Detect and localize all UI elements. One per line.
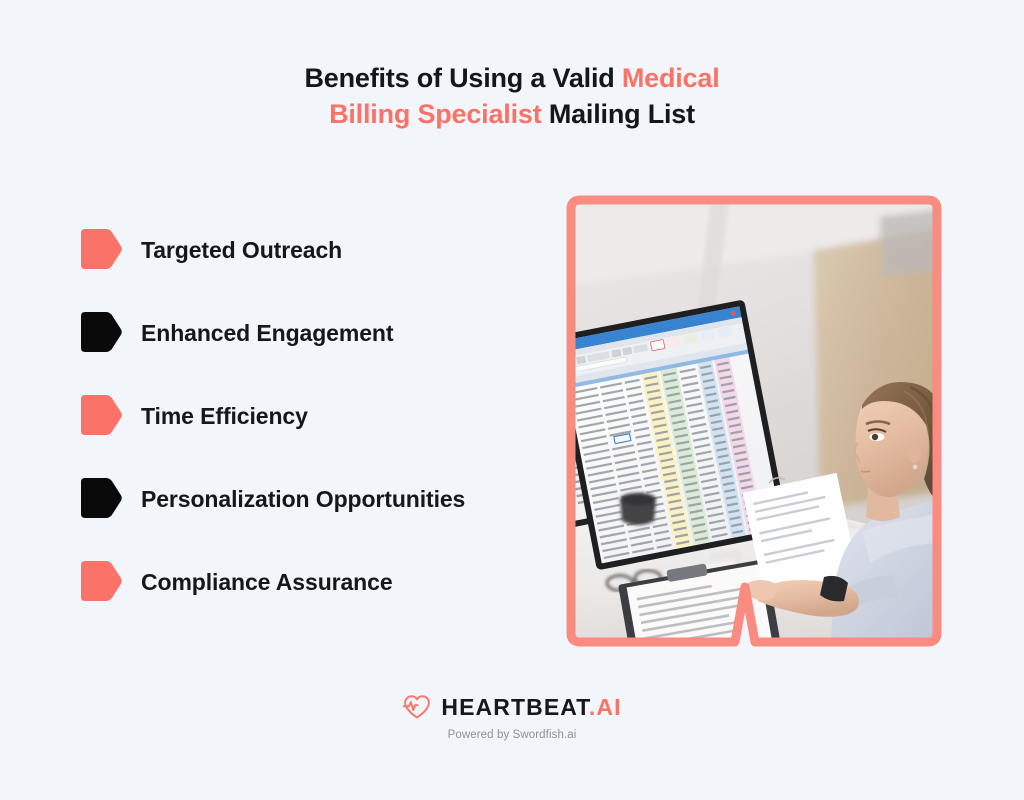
pentagon-marker-black-icon — [78, 476, 124, 522]
logo-row: HEARTBEAT.AI — [402, 694, 621, 720]
logo-brand-text: HEARTBEAT — [441, 694, 588, 720]
brand-logo: HEARTBEAT.AI Powered by Swordfish.ai — [0, 694, 1024, 741]
pentagon-marker-black-icon — [78, 310, 124, 356]
list-item-label: Personalization Opportunities — [141, 486, 465, 513]
photo-card — [562, 191, 946, 651]
pentagon-marker-coral-icon — [78, 559, 124, 605]
title-text-plain-1: Benefits of Using a Valid — [304, 63, 621, 93]
pentagon-marker-coral-icon — [78, 227, 124, 273]
heartbeat-pulse-icon — [402, 694, 432, 720]
list-item-label: Targeted Outreach — [141, 237, 342, 264]
list-item: Targeted Outreach — [78, 222, 548, 278]
title-text-accent-2: Billing Specialist — [329, 99, 541, 129]
logo-suffix-text: .AI — [589, 694, 622, 720]
page-title-line-1: Benefits of Using a Valid Medical — [0, 60, 1024, 96]
pentagon-marker-coral-icon — [78, 393, 124, 439]
page-title: Benefits of Using a Valid Medical Billin… — [0, 60, 1024, 132]
list-item: Enhanced Engagement — [78, 305, 548, 361]
logo-tagline: Powered by Swordfish.ai — [0, 729, 1024, 741]
logo-wordmark: HEARTBEAT.AI — [441, 694, 621, 720]
title-text-plain-2: Mailing List — [542, 99, 695, 129]
photo-image — [562, 191, 946, 651]
list-item-label: Enhanced Engagement — [141, 320, 393, 347]
list-item: Personalization Opportunities — [78, 471, 548, 527]
list-item-label: Compliance Assurance — [141, 569, 393, 596]
infographic-page: Benefits of Using a Valid Medical Billin… — [0, 0, 1024, 800]
page-title-line-2: Billing Specialist Mailing List — [0, 96, 1024, 132]
list-item-label: Time Efficiency — [141, 403, 308, 430]
benefits-list: Targeted Outreach Enhanced Engagement Ti… — [78, 222, 548, 637]
list-item: Compliance Assurance — [78, 554, 548, 610]
title-text-accent-1: Medical — [622, 63, 720, 93]
photo-frame — [562, 191, 946, 651]
list-item: Time Efficiency — [78, 388, 548, 444]
